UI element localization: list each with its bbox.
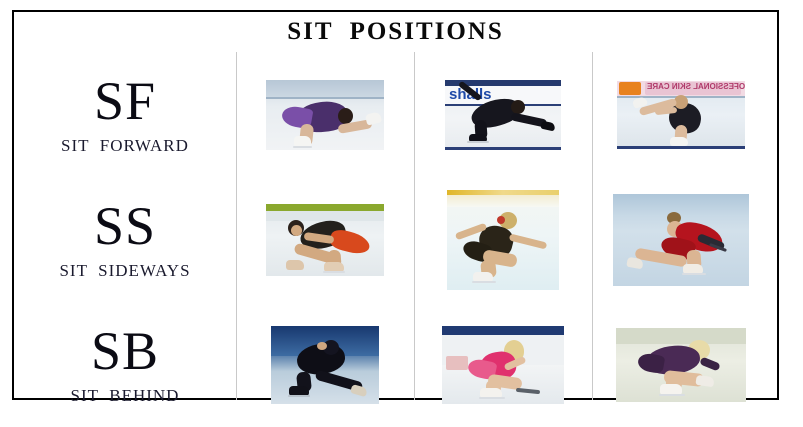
skater-head — [511, 100, 525, 114]
photo-cell-sb-3 — [592, 302, 770, 427]
rink-board-band — [266, 80, 384, 97]
photo-cell-sf-3: PROFESSIONAL SKIN CARE — [592, 52, 770, 177]
skater-arm — [699, 356, 721, 371]
skate-blade — [323, 271, 345, 273]
position-name: SIT FORWARD — [61, 136, 189, 156]
skate-blade — [659, 394, 685, 396]
rink-board-lower — [266, 211, 384, 221]
photo-sb-1 — [271, 326, 379, 404]
skate-boot-free — [695, 374, 714, 386]
table-row-sit-sideways: SS SIT SIDEWAYS — [14, 177, 777, 302]
position-label-sf: SF SIT FORWARD — [14, 52, 236, 177]
photo-cell-sf-2: shalls — [414, 52, 592, 177]
rink-board-fade — [447, 195, 559, 207]
table-row-sit-behind: SB SIT BEHIND — [14, 302, 777, 427]
skate-boot — [365, 111, 382, 125]
photo-cell-sb-1 — [236, 302, 414, 427]
rink-bottom-line — [617, 146, 745, 149]
rink-background-band — [613, 194, 749, 216]
photo-sb-3 — [616, 328, 746, 402]
skate-boot — [286, 260, 304, 270]
position-name: SIT SIDEWAYS — [59, 261, 190, 281]
photo-sb-2 — [442, 326, 564, 404]
rink-bottom-line — [445, 147, 561, 150]
rink-board-band — [442, 326, 564, 335]
position-name: SIT BEHIND — [71, 386, 180, 406]
table-row-sit-forward: SF SIT FORWARD — [14, 52, 777, 177]
skate-boot — [350, 383, 368, 396]
skate-boot — [294, 136, 311, 147]
photo-sf-2: shalls — [445, 80, 561, 150]
photo-cell-ss-3 — [592, 177, 770, 302]
photo-sf-1 — [266, 80, 384, 150]
hair-ornament — [497, 216, 505, 224]
skate-blade — [288, 395, 310, 397]
rink-board-marking — [446, 356, 468, 370]
photo-cell-sb-2 — [414, 302, 592, 427]
photo-ss-3 — [613, 194, 749, 286]
photo-cell-sf-1 — [236, 52, 414, 177]
rink-edge-line — [266, 97, 384, 99]
skate-blade — [472, 281, 496, 283]
photo-ss-2 — [447, 190, 559, 290]
rink-board-band — [266, 204, 384, 211]
skate-boot — [660, 384, 682, 395]
position-label-sb: SB SIT BEHIND — [14, 302, 236, 427]
skater-head — [338, 108, 353, 124]
skate-blade — [479, 397, 505, 399]
skate-blade — [467, 141, 489, 143]
position-label-ss: SS SIT SIDEWAYS — [14, 177, 236, 302]
photo-sf-3: PROFESSIONAL SKIN CARE — [617, 81, 745, 149]
photo-cell-ss-1 — [236, 177, 414, 302]
skate-blade-trailing — [516, 387, 540, 393]
position-code: SF — [94, 74, 156, 128]
skate-boot — [670, 137, 688, 146]
position-code: SS — [94, 199, 156, 253]
skater-arm-right — [509, 233, 548, 249]
skater-neck — [317, 342, 327, 350]
rink-banner-text: PROFESSIONAL SKIN CARE — [647, 83, 745, 91]
rink-board-orange-box — [619, 82, 641, 95]
photo-cell-ss-2 — [414, 177, 592, 302]
skate-blade — [293, 146, 312, 148]
skate-blade — [682, 273, 706, 275]
position-code: SB — [91, 324, 159, 378]
sit-positions-chart: SIT POSITIONS SF SIT FORWARD — [12, 10, 779, 400]
rink-background-band — [616, 328, 746, 344]
skate-boot — [540, 120, 555, 131]
page-title: SIT POSITIONS — [14, 18, 777, 46]
photo-ss-1 — [266, 204, 384, 276]
skater-face — [291, 225, 302, 236]
